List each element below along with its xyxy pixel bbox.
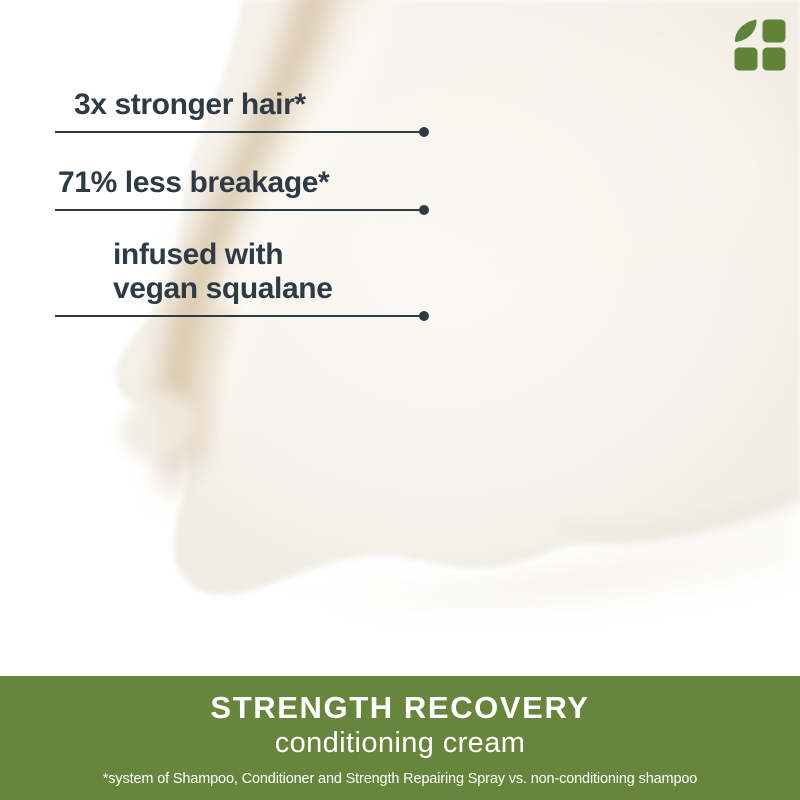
product-marketing-image: 3x stronger hair* 71% less breakage* inf… — [0, 0, 800, 800]
connector-dot-icon — [419, 205, 429, 215]
product-subtitle: conditioning cream — [0, 729, 800, 758]
connector-dot-icon — [419, 127, 429, 137]
claim-connector — [55, 127, 435, 137]
product-banner: STRENGTH RECOVERY conditioning cream *sy… — [0, 676, 800, 800]
claim-item-stronger-hair: 3x stronger hair* — [55, 88, 435, 137]
claim-connector — [55, 311, 435, 321]
claim-label: 3x stronger hair* — [55, 88, 435, 122]
claim-connector — [55, 205, 435, 215]
footnote-disclaimer: *system of Shampoo, Conditioner and Stre… — [0, 772, 800, 787]
product-name: STRENGTH RECOVERY — [0, 692, 800, 723]
claims-list: 3x stronger hair* 71% less breakage* inf… — [0, 0, 800, 676]
connector-line — [55, 209, 421, 211]
connector-line — [55, 131, 421, 133]
claim-item-less-breakage: 71% less breakage* — [55, 166, 435, 215]
claim-label: 71% less breakage* — [55, 166, 435, 200]
claim-label: infused with vegan squalane — [55, 238, 435, 306]
claim-item-vegan-squalane: infused with vegan squalane — [55, 238, 435, 321]
connector-line — [55, 315, 421, 317]
connector-dot-icon — [419, 311, 429, 321]
